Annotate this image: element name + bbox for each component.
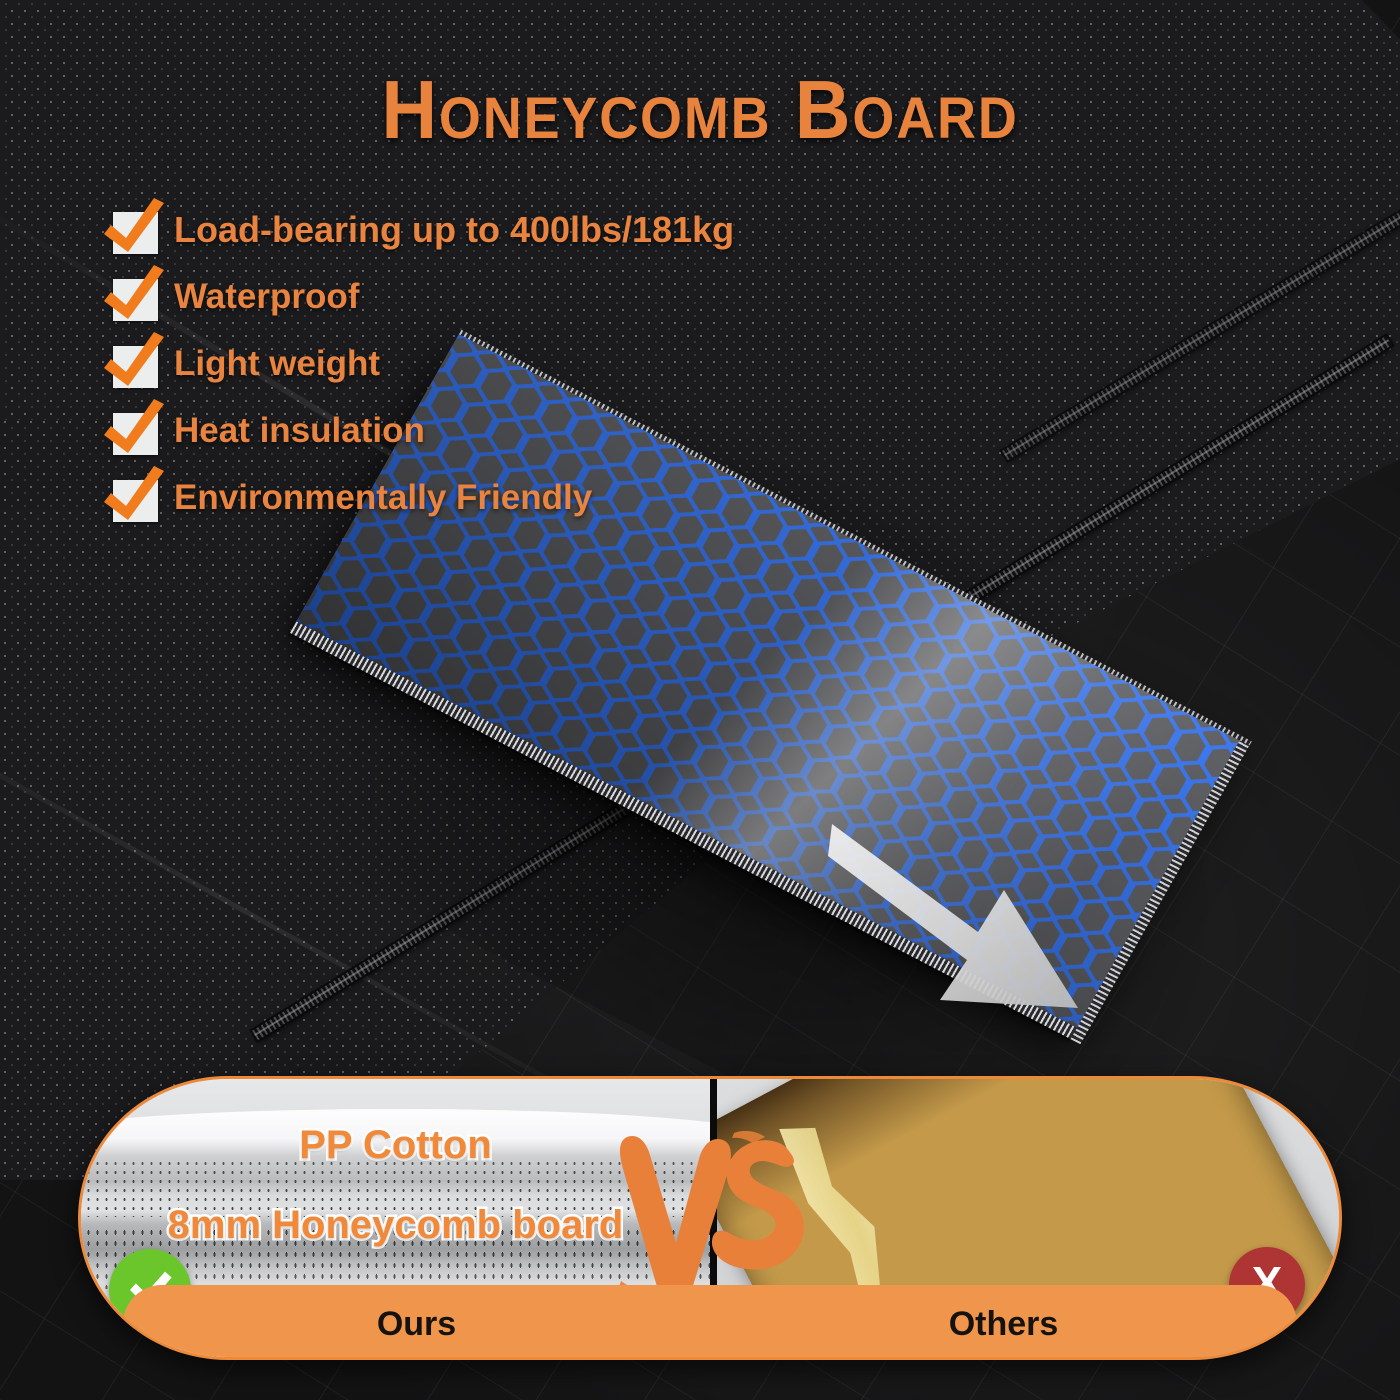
comparison-panel: PP Cotton 8mm Honeycomb board X Ours Oth… (78, 1076, 1342, 1360)
checkbox-check-icon (108, 340, 160, 388)
list-item-label: Load-bearing up to 400lbs/181kg (160, 212, 734, 248)
list-item-label: Heat insulation (160, 413, 425, 448)
checkbox-check-icon (108, 206, 160, 254)
footer-label-ours: Ours (123, 1305, 710, 1344)
checkbox-check-icon (108, 474, 160, 522)
list-item: Environmentally Friendly (108, 464, 908, 531)
feature-list: Load-bearing up to 400lbs/181kg Waterpro… (108, 196, 908, 531)
checkbox-check-icon (108, 273, 160, 321)
list-item: Heat insulation (108, 397, 908, 464)
list-item-label: Environmentally Friendly (160, 480, 592, 515)
footer-label-others: Others (710, 1305, 1297, 1344)
left-caption-top: PP Cotton (81, 1123, 710, 1168)
comparison-footer-bar: Ours Others (123, 1285, 1297, 1360)
checkbox-check-icon (108, 407, 160, 455)
list-item-label: Light weight (160, 346, 380, 381)
list-item-label: Waterproof (160, 279, 359, 314)
left-caption-bottom: 8mm Honeycomb board (81, 1203, 710, 1248)
list-item: Waterproof (108, 263, 908, 330)
list-item: Load-bearing up to 400lbs/181kg (108, 196, 908, 263)
list-item: Light weight (108, 330, 908, 397)
page-title: Honeycomb Board (49, 62, 1351, 158)
